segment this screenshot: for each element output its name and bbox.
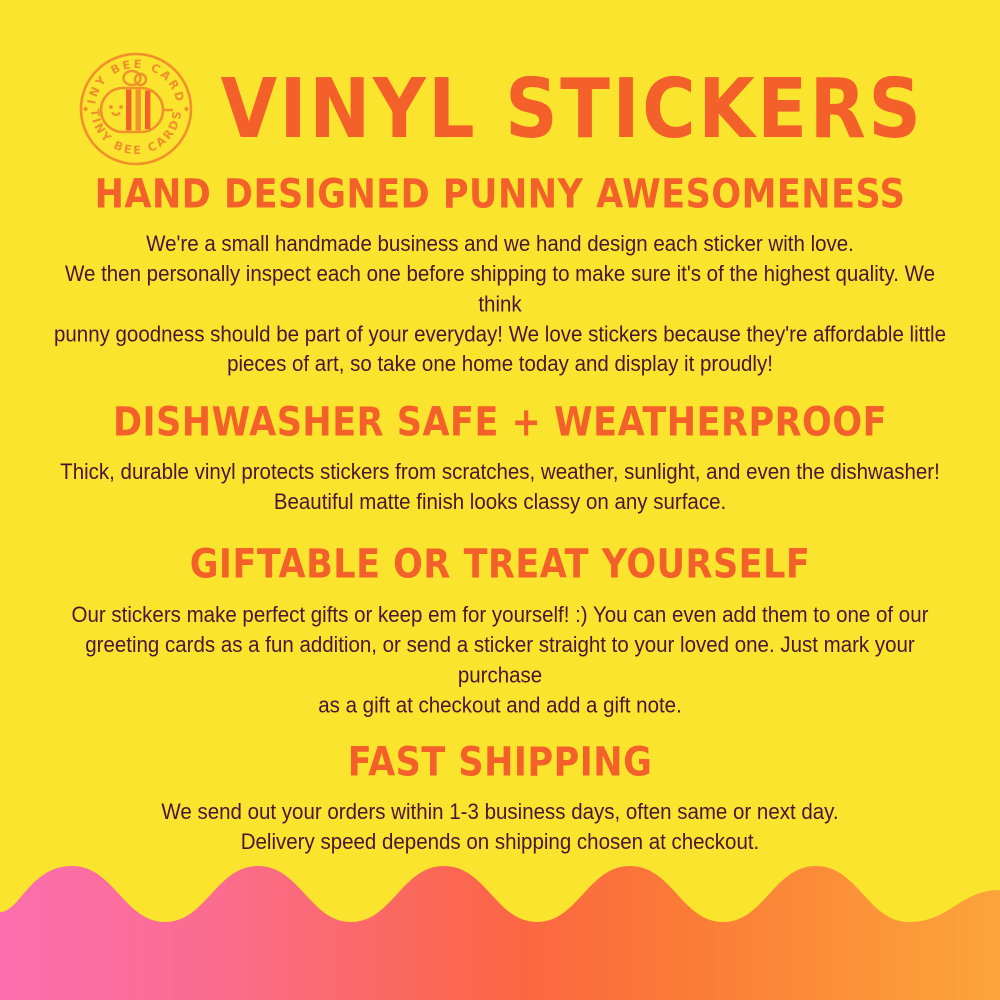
body-line: We then personally inspect each one befo… bbox=[50, 260, 950, 320]
sections-container: HAND DESIGNED PUNNY AWESOMENESS We're a … bbox=[0, 178, 1000, 855]
body-line: Beautiful matte finish looks classy on a… bbox=[50, 488, 950, 518]
section-heading: HAND DESIGNED PUNNY AWESOMENESS bbox=[36, 172, 964, 218]
section-body: Thick, durable vinyl protects stickers f… bbox=[50, 458, 950, 518]
body-line: Our stickers make perfect gifts or keep … bbox=[50, 601, 950, 631]
section-heading: DISHWASHER SAFE + WEATHERPROOF bbox=[36, 400, 964, 446]
scalloped-wave-icon bbox=[0, 840, 1000, 1000]
section-hand-designed: HAND DESIGNED PUNNY AWESOMENESS We're a … bbox=[36, 178, 964, 372]
body-line: Delivery speed depends on shipping chose… bbox=[50, 828, 950, 858]
wave-footer-decoration bbox=[0, 840, 1000, 1000]
body-line: as a gift at checkout and add a gift not… bbox=[50, 691, 950, 721]
svg-text:TINY BEE CARDS: TINY BEE CARDS bbox=[77, 50, 188, 105]
body-line: punny goodness should be part of your ev… bbox=[50, 320, 950, 350]
body-line: Thick, durable vinyl protects stickers f… bbox=[50, 458, 950, 488]
section-fast-shipping: FAST SHIPPING We send out your orders wi… bbox=[36, 746, 964, 855]
section-body: Our stickers make perfect gifts or keep … bbox=[50, 601, 950, 721]
section-heading: GIFTABLE OR TREAT YOURSELF bbox=[36, 543, 964, 589]
body-line: greeting cards as a fun addition, or sen… bbox=[50, 631, 950, 691]
section-giftable: GIFTABLE OR TREAT YOURSELF Our stickers … bbox=[36, 548, 964, 713]
body-line: We're a small handmade business and we h… bbox=[50, 230, 950, 260]
bee-logo-icon: TINY BEE CARDS TINY BEE CARDS bbox=[77, 50, 195, 168]
section-heading: FAST SHIPPING bbox=[36, 740, 964, 786]
section-body: We're a small handmade business and we h… bbox=[50, 230, 950, 380]
section-dishwasher: DISHWASHER SAFE + WEATHERPROOF Thick, du… bbox=[36, 406, 964, 515]
body-line: pieces of art, so take one home today an… bbox=[50, 350, 950, 380]
header: TINY BEE CARDS TINY BEE CARDS bbox=[0, 0, 1000, 150]
body-line: We send out your orders within 1-3 busin… bbox=[50, 798, 950, 828]
page-title: VINYL STICKERS bbox=[221, 68, 924, 150]
tiny-bee-cards-logo: TINY BEE CARDS TINY BEE CARDS bbox=[77, 50, 195, 168]
section-body: We send out your orders within 1-3 busin… bbox=[50, 798, 950, 858]
